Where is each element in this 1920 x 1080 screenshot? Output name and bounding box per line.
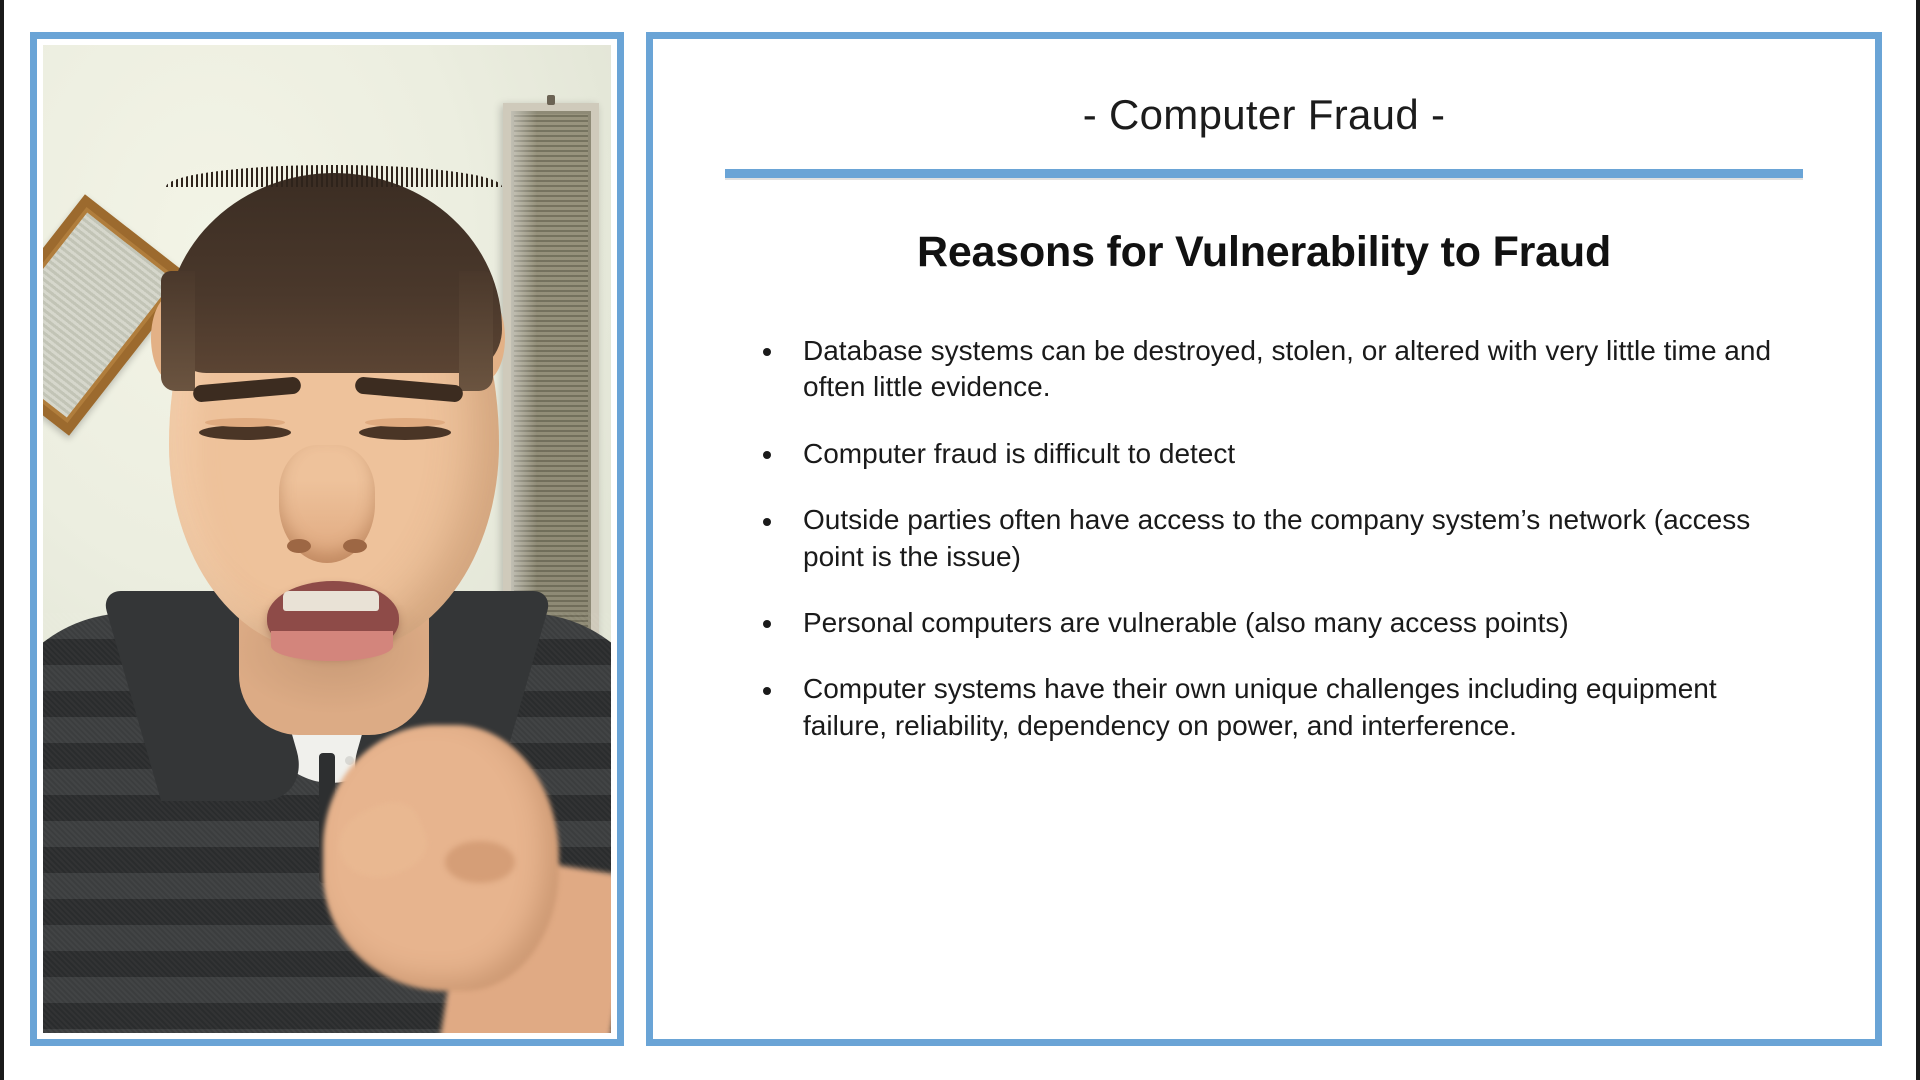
list-item: Computer fraud is difficult to detect (755, 436, 1803, 472)
bullet-dot-icon (763, 687, 771, 695)
presenter-sideburn-left (161, 271, 195, 391)
presenter-teeth (283, 591, 379, 611)
bullet-dot-icon (763, 518, 771, 526)
presentation-stage: - Computer Fraud - Reasons for Vulnerabi… (0, 0, 1920, 1080)
slide-title: - Computer Fraud - (711, 81, 1817, 139)
list-item: Personal computers are vulnerable (also … (755, 605, 1803, 641)
presenter-nostril-right (343, 539, 367, 553)
title-divider-rule (725, 169, 1803, 178)
slide-bullet-list: Database systems can be destroyed, stole… (755, 333, 1803, 744)
bullet-dot-icon (763, 451, 771, 459)
presenter-knuckles (445, 841, 515, 883)
slide-content: - Computer Fraud - Reasons for Vulnerabi… (653, 39, 1875, 1039)
presenter-sideburn-right (459, 271, 493, 391)
bullet-text: Outside parties often have access to the… (803, 504, 1750, 571)
slide-heading: Reasons for Vulnerability to Fraud (711, 228, 1817, 277)
presenter-lower-lip (271, 631, 393, 661)
presenter-eye-right (359, 425, 451, 440)
bullet-text: Computer systems have their own unique c… (803, 673, 1717, 740)
presenter-nostril-left (287, 539, 311, 553)
presenter-webcam-feed[interactable] (43, 45, 611, 1033)
bullet-dot-icon (763, 620, 771, 628)
bullet-dot-icon (763, 348, 771, 356)
slide-panel[interactable]: - Computer Fraud - Reasons for Vulnerabi… (646, 32, 1882, 1046)
bullet-text: Computer fraud is difficult to detect (803, 438, 1235, 469)
bullet-text: Database systems can be destroyed, stole… (803, 335, 1771, 402)
presenter-eye-left (199, 425, 291, 440)
presenter-figure (43, 45, 611, 1033)
bullet-text: Personal computers are vulnerable (also … (803, 607, 1569, 638)
list-item: Outside parties often have access to the… (755, 502, 1803, 575)
list-item: Database systems can be destroyed, stole… (755, 333, 1803, 406)
presenter-hair (166, 173, 502, 373)
presenter-video-panel[interactable] (30, 32, 624, 1046)
list-item: Computer systems have their own unique c… (755, 671, 1803, 744)
